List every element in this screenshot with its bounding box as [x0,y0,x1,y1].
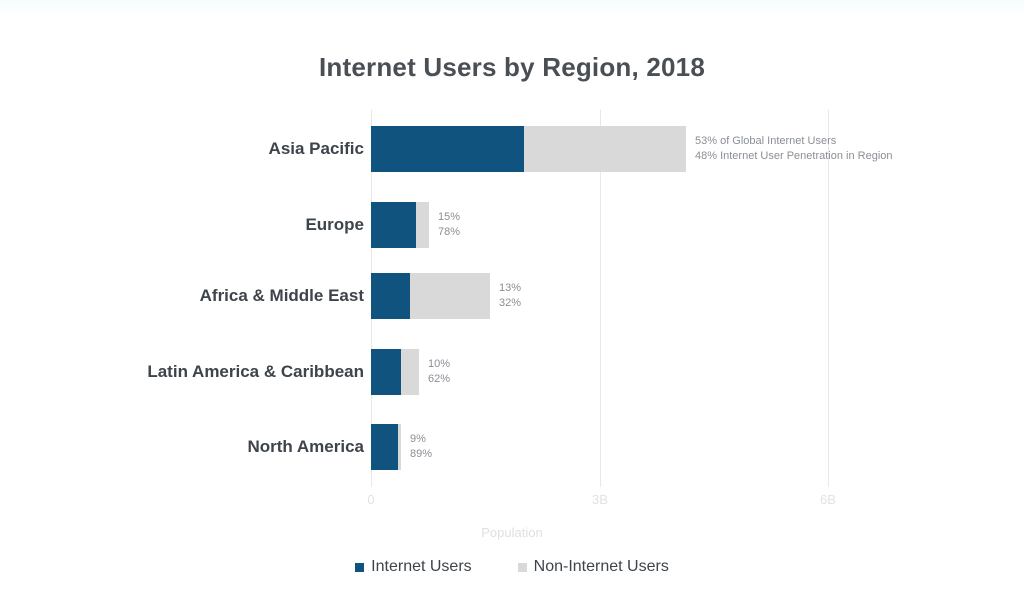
internet-users-chart: Internet Users by Region, 2018 0 3B 6B P… [0,0,1024,616]
stacked-bar-europe[interactable] [371,202,429,248]
category-label-north-america: North America [247,437,364,457]
annotation-penetration: 78% [438,225,460,240]
bar-segment-internet-users[interactable] [371,349,401,395]
annotation-share-of-global: 9% [410,433,426,445]
category-label-africa-middle-east: Africa & Middle East [200,286,364,306]
bar-row-latin-america-caribbean: Latin America & Caribbean 10% 62% [0,349,1024,395]
stacked-bar-africa-middle-east[interactable] [371,273,490,319]
x-tick-label-0: 0 [367,492,374,507]
category-label-europe: Europe [305,215,364,235]
chart-legend: Internet Users Non-Internet Users [0,558,1024,576]
annotation-share-of-global: 10% [428,358,450,370]
plot-area: 0 3B 6B Population Asia Pacific 53% of G… [0,0,1024,616]
bar-segment-non-internet-users[interactable] [524,126,686,172]
bar-row-europe: Europe 15% 78% [0,202,1024,248]
bar-annotation-latin-america-caribbean: 10% 62% [419,357,450,387]
bar-row-asia-pacific: Asia Pacific 53% of Global Internet User… [0,126,1024,172]
bar-segment-internet-users[interactable] [371,202,416,248]
stacked-bar-north-america[interactable] [371,424,401,470]
annotation-share-of-global: 15% [438,211,460,223]
annotation-penetration: 32% [499,296,521,311]
bar-annotation-asia-pacific: 53% of Global Internet Users 48% Interne… [686,134,893,164]
x-tick-label-3b: 3B [592,492,608,507]
legend-swatch-icon [518,563,527,572]
legend-label-internet-users: Internet Users [371,558,471,576]
x-tick-label-6b: 6B [820,492,836,507]
annotation-penetration: 62% [428,372,450,387]
bar-annotation-africa-middle-east: 13% 32% [490,281,521,311]
bar-segment-non-internet-users[interactable] [416,202,429,248]
legend-item-non-internet-users[interactable]: Non-Internet Users [518,558,669,576]
legend-item-internet-users[interactable]: Internet Users [355,558,471,576]
annotation-penetration: 48% Internet User Penetration in Region [695,149,893,164]
x-axis-title: Population [0,525,1024,540]
bar-annotation-europe: 15% 78% [429,210,460,240]
annotation-share-of-global: 13% [499,282,521,294]
bar-segment-non-internet-users[interactable] [401,349,419,395]
bar-row-north-america: North America 9% 89% [0,424,1024,470]
legend-label-non-internet-users: Non-Internet Users [534,558,669,576]
annotation-share-of-global: 53% of Global Internet Users [695,135,836,147]
stacked-bar-latin-america-caribbean[interactable] [371,349,419,395]
bar-segment-internet-users[interactable] [371,273,410,319]
category-label-latin-america-caribbean: Latin America & Caribbean [147,362,364,382]
bar-segment-non-internet-users[interactable] [410,273,490,319]
bar-segment-internet-users[interactable] [371,424,398,470]
stacked-bar-asia-pacific[interactable] [371,126,686,172]
bar-annotation-north-america: 9% 89% [401,432,432,462]
bar-segment-internet-users[interactable] [371,126,524,172]
category-label-asia-pacific: Asia Pacific [269,139,364,159]
bar-row-africa-middle-east: Africa & Middle East 13% 32% [0,273,1024,319]
annotation-penetration: 89% [410,447,432,462]
legend-swatch-icon [355,563,364,572]
